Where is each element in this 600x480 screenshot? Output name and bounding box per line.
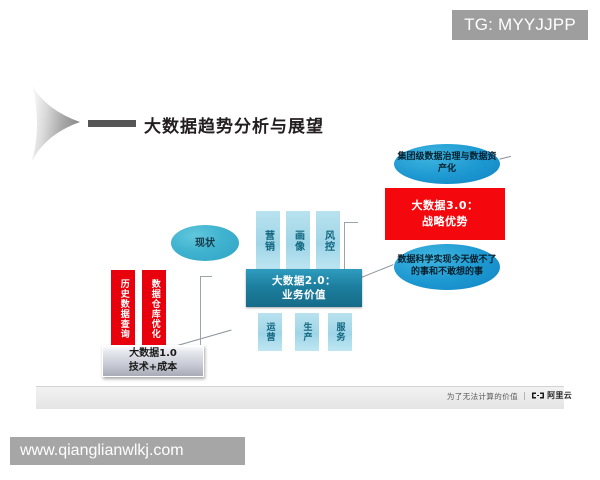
stage2-bar-line1: 大数据2.0： bbox=[272, 274, 336, 288]
stage3-bar-line1: 大数据3.0： bbox=[412, 198, 479, 215]
stage2-bottom-box-service[interactable]: 服务 bbox=[327, 312, 353, 352]
stage3-main-box[interactable]: 大数据3.0： 战略优势 bbox=[385, 188, 505, 240]
stage2-main-bar[interactable]: 大数据2.0： 业务价值 bbox=[246, 269, 362, 307]
stage3-ellipse-data-science[interactable]: 数据科学实现今天做不了的事和不敢想的事 bbox=[393, 243, 501, 291]
funnel-decoration-icon bbox=[22, 84, 90, 162]
stage2-top-box-marketing[interactable]: 营销 bbox=[255, 210, 281, 272]
stage1-pillar-warehouse-optimization[interactable]: 数据仓库优化 bbox=[141, 269, 167, 349]
stage2-bottom-box-production[interactable]: 生产 bbox=[294, 312, 320, 352]
title-accent-bar bbox=[88, 120, 136, 127]
stage2-bottom-box-operations[interactable]: 运营 bbox=[257, 312, 283, 352]
stage3-ellipse-governance[interactable]: 集团级数据治理与数据资产化 bbox=[393, 143, 501, 185]
stage1-base-line2: 技术+成本 bbox=[129, 361, 177, 375]
connector-stage3-top-horizontal bbox=[344, 222, 358, 223]
footer-separator: | bbox=[523, 391, 526, 400]
footer-slogan: 为了无法计算的价值 bbox=[447, 391, 518, 402]
stage1-base-box[interactable]: 大数据1.0 技术+成本 bbox=[102, 345, 204, 377]
stage1-base-line1: 大数据1.0 bbox=[129, 347, 177, 361]
stage3-bar-line2: 战略优势 bbox=[422, 214, 468, 231]
connector-stage2-top-horizontal bbox=[200, 276, 212, 277]
stage1-pillar-history-query[interactable]: 历史数据查询 bbox=[110, 269, 136, 349]
telegram-watermark: TG: MYYJJPP bbox=[452, 10, 588, 40]
stage2-bar-line2: 业务价值 bbox=[282, 288, 326, 302]
current-state-ellipse[interactable]: 现状 bbox=[170, 224, 240, 262]
stage2-top-box-profiling[interactable]: 画像 bbox=[285, 210, 311, 272]
footer-brand: 阿里云 bbox=[531, 390, 572, 401]
alibaba-cloud-logo-icon bbox=[531, 391, 545, 400]
site-url-watermark: www.qianglianwlkj.com bbox=[10, 437, 245, 465]
footer-brand-text: 阿里云 bbox=[547, 390, 572, 401]
screenshot-root: TG: MYYJJPP 大数据趋势分析与展望 bbox=[0, 0, 600, 480]
connector-stage2-left-vertical bbox=[200, 276, 201, 348]
stage2-top-box-risk-control[interactable]: 风控 bbox=[315, 210, 341, 272]
presentation-slide: 大数据趋势分析与展望 历史数据查询 数据仓库优化 大数据1.0 技术+成本 现状… bbox=[14, 62, 586, 427]
slide-title: 大数据趋势分析与展望 bbox=[144, 112, 324, 137]
